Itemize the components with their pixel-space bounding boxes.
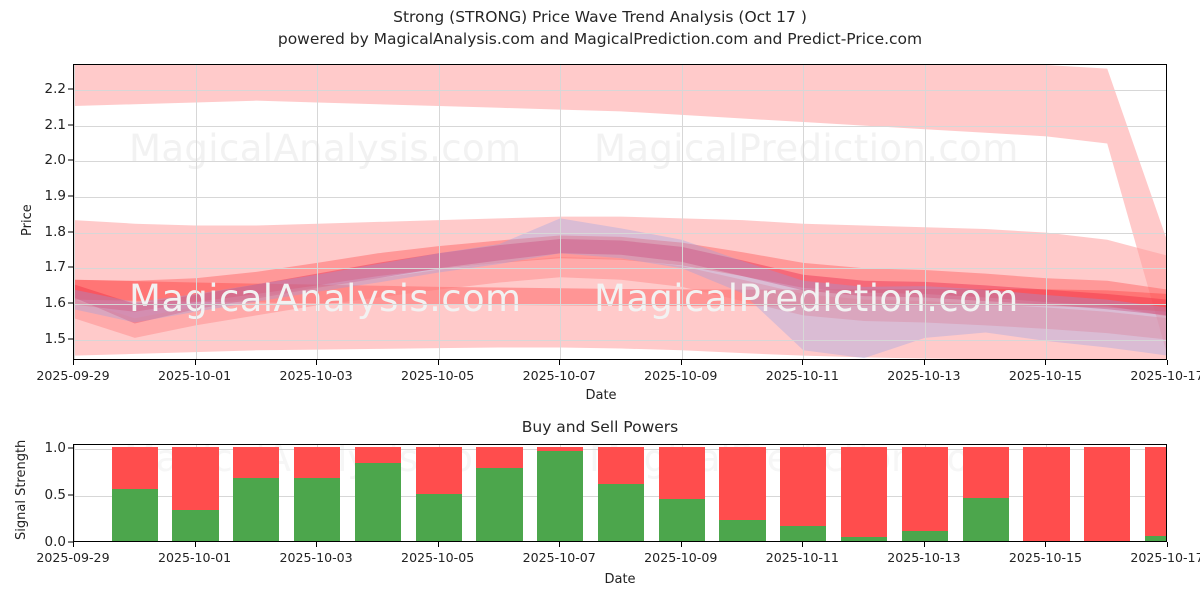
buy-power-segment [659,499,705,541]
powers-bar [537,447,583,541]
powers-x-tick-label: 2025-10-01 [158,550,231,565]
powers-bar [598,447,644,541]
sell-power-segment [416,447,462,494]
sell-power-segment [1145,447,1167,537]
price-gridline-h-1 [74,304,1166,305]
powers-x-tick-label: 2025-10-07 [523,550,596,565]
powers-x-tick-label: 2025-09-29 [36,550,109,565]
powers-bar [963,447,1009,541]
price-gridline-v-0 [74,65,75,359]
price-gridline-v-8 [1046,65,1047,359]
price-gridline-v-4 [560,65,561,359]
sell-power-segment [780,447,826,526]
price-y-tick-label: 2.0 [18,152,66,168]
powers-x-tick-mark [316,542,317,547]
price-y-tick-mark [68,231,73,232]
price-y-tick-mark [68,267,73,268]
buy-power-segment [841,537,887,541]
powers-bar [780,447,826,541]
powers-bar [294,447,340,541]
powers-bar [1023,447,1069,541]
price-x-tick-mark [559,360,560,365]
price-gridline-h-6 [74,126,1166,127]
price-y-tick-mark [68,302,73,303]
price-x-tick-label: 2025-10-13 [887,368,960,383]
powers-bar [1145,447,1167,541]
buy-power-segment [476,468,522,542]
chart-page: Strong (STRONG) Price Wave Trend Analysi… [0,0,1200,600]
price-x-tick-label: 2025-10-11 [766,368,839,383]
powers-bar [112,447,158,541]
price-gridline-v-2 [317,65,318,359]
sell-power-segment [963,447,1009,498]
price-x-tick-label: 2025-10-09 [644,368,717,383]
powers-bar [416,447,462,541]
price-wave-chart: MagicalAnalysis.comMagicalPrediction.com… [73,64,1167,360]
powers-y-tick-mark [68,447,73,448]
powers-bar [476,447,522,541]
buy-power-segment [780,526,826,541]
powers-bar [841,447,887,541]
price-x-tick-mark [924,360,925,365]
sell-power-segment [719,447,765,521]
powers-x-tick-mark [802,542,803,547]
sell-power-segment [172,447,218,510]
price-x-tick-mark [1167,360,1168,365]
powers-x-tick-mark [1167,542,1168,547]
sell-power-segment [598,447,644,484]
price-x-tick-label: 2025-10-15 [1009,368,1082,383]
sell-power-segment [659,447,705,499]
price-x-tick-mark [1045,360,1046,365]
price-x-tick-label: 2025-10-01 [158,368,231,383]
buy-power-segment [1145,536,1167,541]
price-y-tick-mark [68,160,73,161]
price-x-tick-label: 2025-10-17 [1130,368,1200,383]
powers-chart-title: Buy and Sell Powers [0,418,1200,436]
price-x-tick-label: 2025-09-29 [36,368,109,383]
price-gridline-h-0 [74,340,1166,341]
price-y-tick-label: 1.9 [18,188,66,204]
buy-power-segment [172,510,218,541]
sell-power-segment [902,447,948,531]
page-title: Strong (STRONG) Price Wave Trend Analysi… [0,6,1200,28]
powers-x-tick-mark [924,542,925,547]
price-x-tick-mark [195,360,196,365]
powers-bar [902,447,948,541]
price-y-tick-label: 1.5 [18,331,66,347]
price-x-tick-label: 2025-10-07 [523,368,596,383]
buy-power-segment [719,520,765,541]
powers-x-tick-label: 2025-10-09 [644,550,717,565]
powers-x-tick-mark [195,542,196,547]
sell-power-segment [233,447,279,478]
powers-x-tick-label: 2025-10-05 [401,550,474,565]
title-block: Strong (STRONG) Price Wave Trend Analysi… [0,6,1200,50]
price-y-axis-title: Price [20,204,35,236]
powers-x-tick-label: 2025-10-11 [766,550,839,565]
price-y-tick-mark [68,338,73,339]
powers-bar [355,447,401,541]
buy-sell-powers-chart: MagicalAnalysis.comMagicalPrediction.com [73,444,1167,542]
powers-y-axis-title: Signal Strength [14,440,29,540]
powers-bar-group [74,445,1166,541]
buy-power-segment [902,531,948,541]
buy-power-segment [963,498,1009,541]
price-gridline-h-4 [74,197,1166,198]
buy-power-segment [294,478,340,541]
price-x-axis-title: Date [585,388,616,403]
price-gridline-h-3 [74,233,1166,234]
powers-x-tick-label: 2025-10-15 [1009,550,1082,565]
buy-power-segment [598,484,644,541]
price-x-tick-mark [681,360,682,365]
powers-x-tick-mark [681,542,682,547]
sell-power-segment [112,447,158,489]
powers-bar [1084,447,1130,541]
powers-bar [233,447,279,541]
powers-bar [719,447,765,541]
sell-power-segment [1084,447,1130,541]
powers-x-axis-title: Date [604,572,635,587]
price-y-tick-label: 1.7 [18,259,66,275]
sell-power-segment [476,447,522,468]
powers-x-tick-mark [1045,542,1046,547]
buy-power-segment [112,489,158,541]
price-gridline-v-7 [925,65,926,359]
price-x-tick-mark [316,360,317,365]
price-gridline-v-1 [196,65,197,359]
price-y-tick-label: 2.1 [18,117,66,133]
page-subtitle: powered by MagicalAnalysis.com and Magic… [0,28,1200,50]
price-wave-bands [74,65,1167,360]
powers-bar [172,447,218,541]
powers-x-tick-mark [73,542,74,547]
powers-bar [659,447,705,541]
buy-power-segment [233,478,279,541]
price-gridline-v-5 [682,65,683,359]
price-gridline-h-5 [74,161,1166,162]
price-gridline-v-6 [803,65,804,359]
price-x-tick-label: 2025-10-05 [401,368,474,383]
price-y-tick-label: 2.2 [18,81,66,97]
sell-power-segment [841,447,887,537]
price-x-tick-mark [802,360,803,365]
powers-x-tick-label: 2025-10-13 [887,550,960,565]
price-x-tick-label: 2025-10-03 [280,368,353,383]
buy-power-segment [537,451,583,541]
price-gridline-h-2 [74,268,1166,269]
price-x-tick-mark [73,360,74,365]
powers-y-tick-mark [68,494,73,495]
powers-x-tick-mark [438,542,439,547]
price-y-tick-mark [68,195,73,196]
price-y-tick-mark [68,88,73,89]
price-gridline-h-7 [74,90,1166,91]
powers-x-tick-label: 2025-10-03 [280,550,353,565]
powers-x-tick-mark [559,542,560,547]
sell-power-segment [294,447,340,478]
sell-power-segment [1023,447,1069,541]
price-x-tick-mark [438,360,439,365]
buy-power-segment [355,463,401,541]
buy-power-segment [416,494,462,541]
price-y-tick-mark [68,124,73,125]
powers-x-tick-label: 2025-10-17 [1130,550,1200,565]
price-y-tick-label: 1.6 [18,295,66,311]
price-gridline-v-3 [439,65,440,359]
sell-power-segment [355,447,401,463]
